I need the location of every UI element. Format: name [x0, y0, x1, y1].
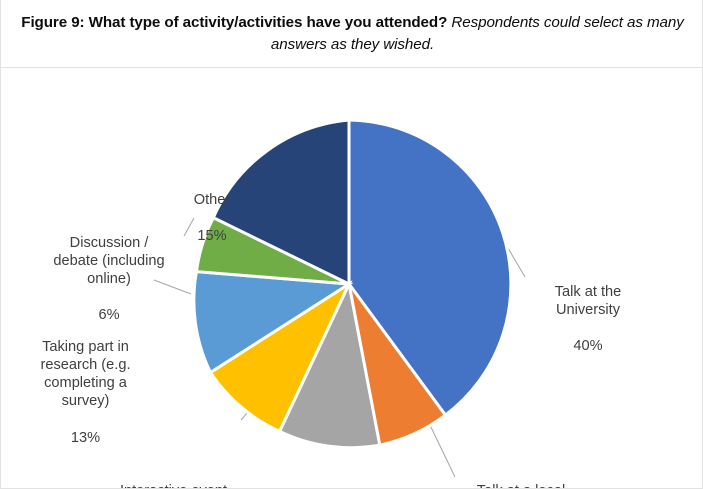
figure-caption: Figure 9: What type of activity/activiti… — [1, 0, 703, 68]
pie-label-talk-local-name: Talk at a local venue (e.g. school) — [456, 482, 586, 489]
figure-caption-text: Figure 9: What type of activity/activiti… — [15, 12, 690, 56]
pie-chart: Talk at the University 40% Talk at a loc… — [1, 68, 703, 488]
pie-label-other: Other 15% — [157, 173, 267, 263]
pie-label-talk-university-percent: 40% — [528, 337, 648, 355]
pie-label-discussion-percent: 6% — [33, 306, 185, 324]
pie-label-interactive-name: Interactive event (e.g. LiGHTS festival) — [101, 482, 246, 489]
pie-label-other-name: Other — [157, 191, 267, 209]
pie-label-talk-local: Talk at a local venue (e.g. school) 7% — [456, 464, 586, 489]
figure-container: Figure 9: What type of activity/activiti… — [0, 0, 703, 489]
pie-label-research-name: Taking part in research (e.g. completing… — [17, 338, 154, 410]
pie-label-interactive: Interactive event (e.g. LiGHTS festival)… — [101, 464, 246, 489]
pie-label-talk-university-name: Talk at the University — [528, 283, 648, 319]
leader-line-talk-local — [428, 421, 455, 477]
pie-label-research-percent: 13% — [17, 429, 154, 447]
pie-label-talk-university: Talk at the University 40% — [528, 265, 648, 374]
pie-label-other-percent: 15% — [157, 227, 267, 245]
figure-caption-bold: Figure 9: What type of activity/activiti… — [21, 14, 447, 31]
pie-slices — [194, 120, 511, 448]
